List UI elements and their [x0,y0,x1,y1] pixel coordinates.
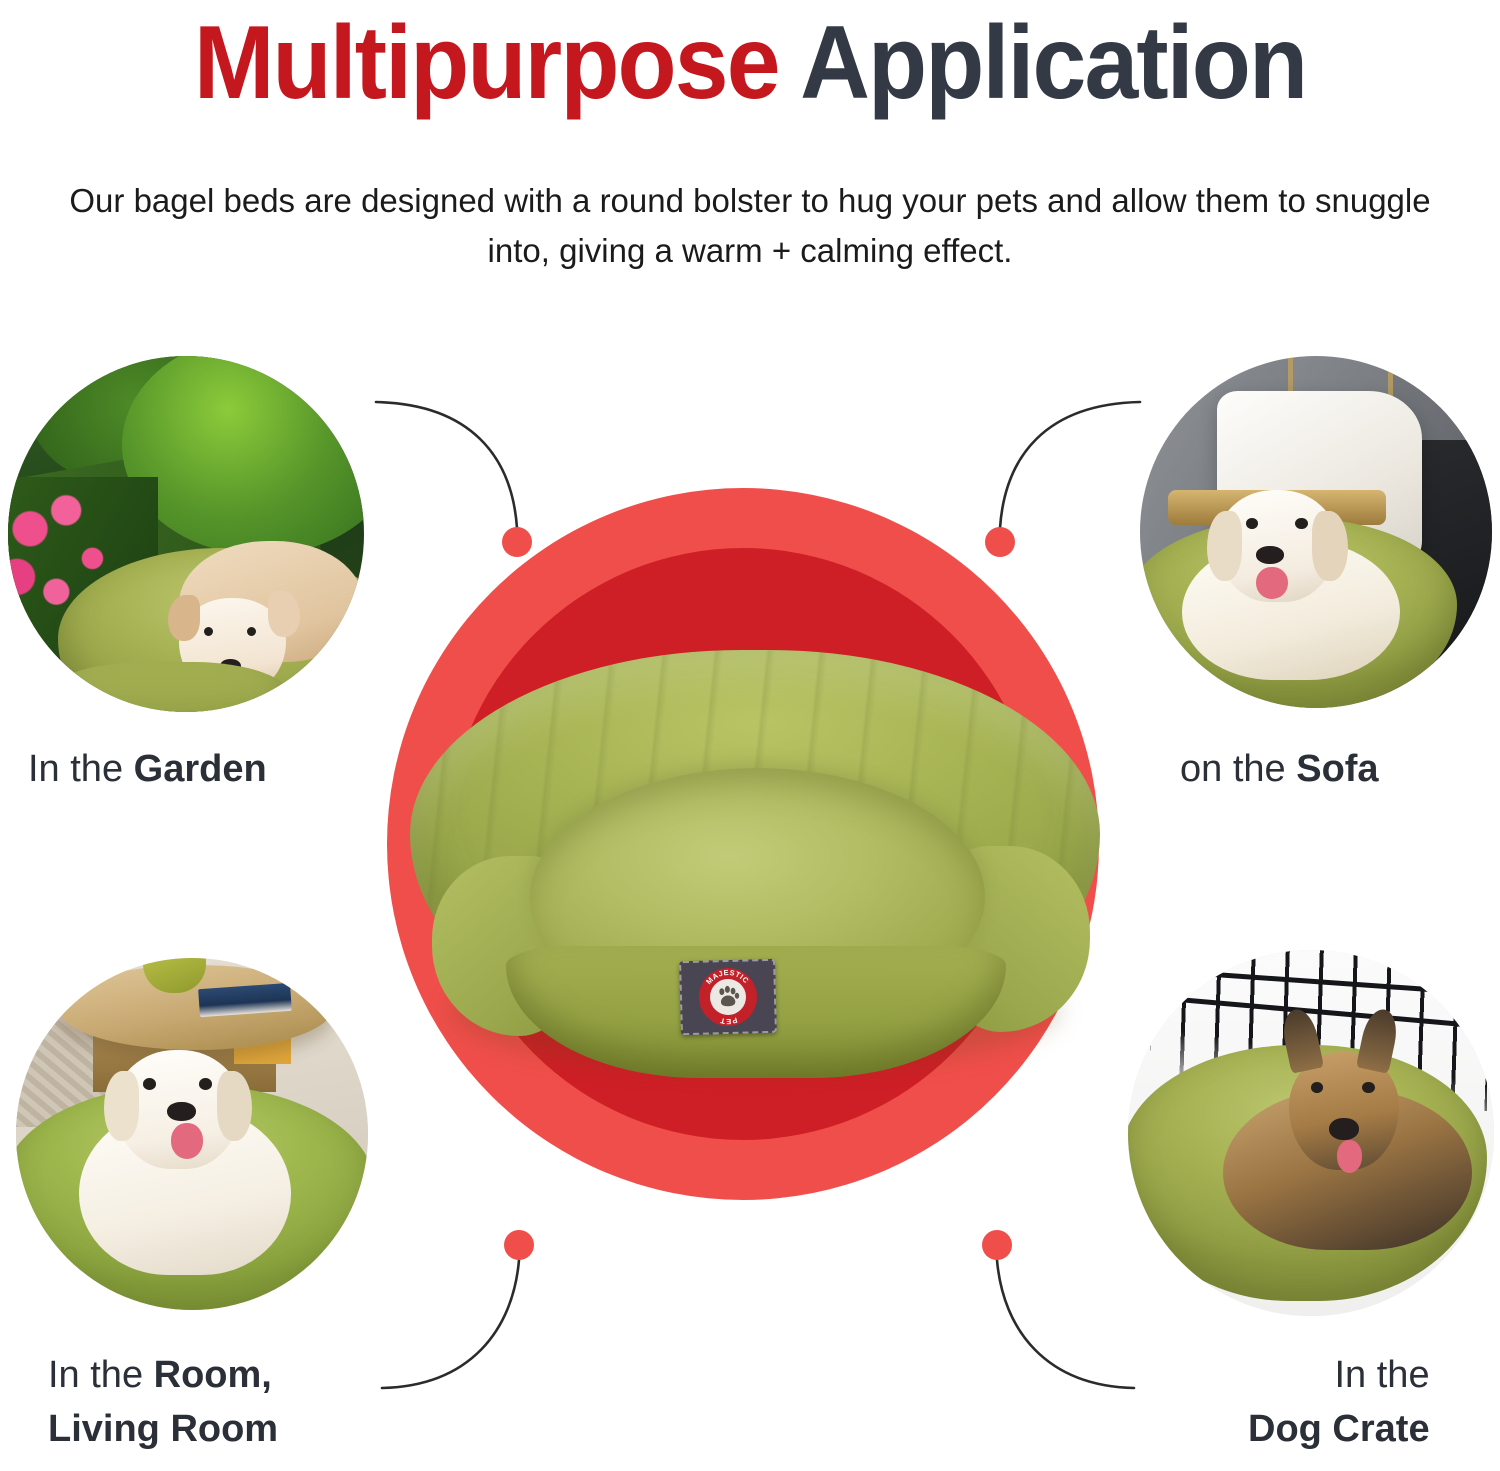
page-subtitle: Our bagel beds are designed with a round… [50,176,1450,276]
crate-dog-nose [1329,1118,1358,1140]
callout-image-dog-crate [1128,950,1494,1316]
callout-label-sofa-prefix: on the [1180,748,1296,790]
connector-line-dog-crate [997,1260,1134,1388]
sofa-dog-tongue [1256,567,1288,599]
garden-dog-eye-left [204,627,213,636]
callout-label-dog-crate-line2-bold: Dog Crate [1248,1408,1430,1450]
crate-dog-eye-right [1362,1082,1374,1093]
garden-dog-ear-right [268,591,300,637]
callout-image-sofa [1140,356,1492,708]
center-product-stage: MAJESTIC PET [375,470,1125,1260]
callout-label-living-room-line2-bold: Living Room [48,1408,278,1450]
garden-dog-ear-left [168,595,200,641]
scene-sofa [1140,356,1492,708]
callout-label-living-room-bold: Room, [154,1354,272,1396]
living-room-dog-ear-right [217,1071,252,1141]
sofa-dog-ear-left [1207,511,1242,581]
callout-label-dog-crate-line2: Dog Crate [1248,1402,1430,1456]
callout-image-living-room [16,958,368,1310]
crate-dog-eye-left [1311,1082,1323,1093]
infographic-page: Multipurpose Application Our bagel beds … [0,0,1500,1471]
brand-badge: MAJESTIC PET [698,967,757,1026]
scene-garden [8,356,364,712]
brand-tag: MAJESTIC PET [679,959,777,1035]
brand-text-ring: MAJESTIC PET [698,967,757,1026]
garden-bed-front [44,662,293,712]
callout-label-living-room-line2: Living Room [48,1402,278,1456]
brand-text-top: MAJESTIC [704,967,751,986]
callout-label-dog-crate: In the Dog Crate [1248,1348,1430,1456]
sofa-dog-nose [1256,546,1284,564]
callout-label-garden: In the Garden [28,742,267,796]
connector-line-living-room [382,1260,519,1388]
callout-label-garden-bold: Garden [134,748,267,790]
callout-label-sofa-bold: Sofa [1296,748,1378,790]
page-title-rest: Application [779,5,1307,121]
living-room-dog-eye-left [143,1078,156,1090]
svg-text:MAJESTIC: MAJESTIC [704,967,751,986]
callout-label-dog-crate-prefix: In the [1335,1354,1430,1396]
callout-label-garden-prefix: In the [28,748,134,790]
callout-label-sofa: on the Sofa [1180,742,1379,796]
callout-label-living-room-prefix: In the [48,1354,154,1396]
page-title: Multipurpose Application [53,4,1448,122]
brand-text-bottom: PET [719,1016,738,1027]
scene-living-room [16,958,368,1310]
page-title-highlight: Multipurpose [194,5,779,121]
living-room-dog-nose [167,1102,195,1121]
svg-text:PET: PET [719,1016,738,1027]
garden-dog-eye-right [247,627,256,636]
living-room-dog-ear-left [104,1071,139,1141]
callout-label-dog-crate-line1: In the [1248,1348,1430,1402]
sofa-dog-eye-right [1295,518,1308,529]
product-dog-bed: MAJESTIC PET [410,650,1100,1080]
callout-image-garden [8,356,364,712]
callout-label-living-room-line1: In the Room, [48,1348,278,1402]
callout-label-living-room: In the Room, Living Room [48,1348,278,1456]
living-room-dog-tongue [171,1123,203,1158]
living-room-dog-eye-right [199,1078,212,1090]
scene-dog-crate [1128,950,1494,1316]
sofa-dog-ear-right [1312,511,1347,581]
